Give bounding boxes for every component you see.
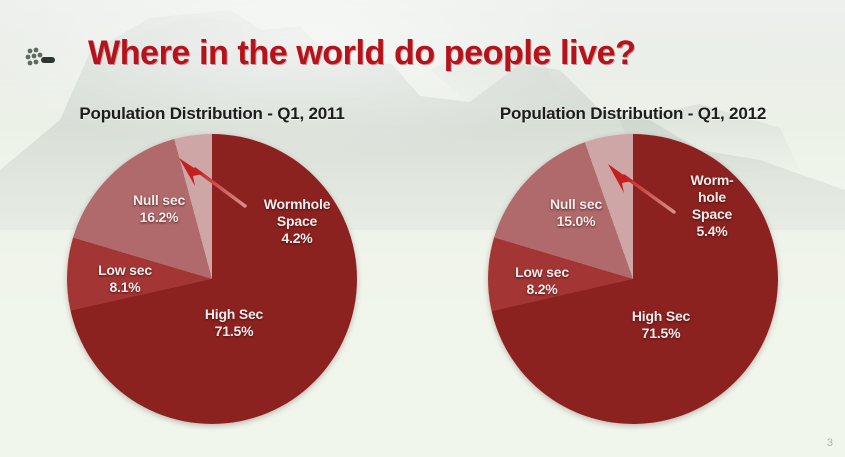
chart-title-2012: Population Distribution - Q1, 2012 bbox=[423, 104, 843, 124]
page-title: Where in the world do people live? bbox=[88, 34, 635, 73]
wormhole-name-line2-2011: Space bbox=[237, 213, 357, 230]
null-sec-name-2012: Null sec bbox=[528, 196, 624, 213]
slice-label-high-sec-2012: High Sec 71.5% bbox=[606, 308, 716, 342]
wormhole-name-line1-2012: Worm- bbox=[666, 172, 758, 189]
slice-label-high-sec-2011: High Sec 71.5% bbox=[179, 306, 289, 340]
slice-label-wormhole-2012: Worm- hole Space 5.4% bbox=[666, 172, 758, 240]
wormhole-name-line1-2011: Wormhole bbox=[237, 196, 357, 213]
low-sec-name-2012: Low sec bbox=[494, 264, 590, 281]
high-sec-name-2011: High Sec bbox=[179, 306, 289, 323]
slice-label-low-sec-2012: Low sec 8.2% bbox=[494, 264, 590, 298]
slice-label-wormhole-2011: Wormhole Space 4.2% bbox=[237, 196, 357, 247]
low-sec-value-2012: 8.2% bbox=[494, 281, 590, 298]
page-number: 3 bbox=[827, 437, 833, 449]
null-sec-value-2012: 15.0% bbox=[528, 213, 624, 230]
pie-wrap-2012: Null sec 15.0% Low sec 8.2% High Sec 71.… bbox=[488, 134, 778, 424]
pie-chart-2011: Population Distribution - Q1, 2011 Null … bbox=[2, 104, 422, 440]
low-sec-name-2011: Low sec bbox=[77, 262, 173, 279]
high-sec-name-2012: High Sec bbox=[606, 308, 716, 325]
wormhole-name-line3-2012: Space bbox=[666, 206, 758, 223]
low-sec-value-2011: 8.1% bbox=[77, 279, 173, 296]
pie-wrap-2011: Null sec 16.2% Low sec 8.1% High Sec 71.… bbox=[67, 134, 357, 424]
slice-label-null-sec-2011: Null sec 16.2% bbox=[111, 192, 207, 226]
charts-area: Population Distribution - Q1, 2011 Null … bbox=[0, 104, 845, 444]
dot-cluster-logo-icon bbox=[24, 46, 58, 68]
wormhole-name-line2-2012: hole bbox=[666, 189, 758, 206]
wormhole-value-2011: 4.2% bbox=[237, 230, 357, 247]
wormhole-value-2012: 5.4% bbox=[666, 223, 758, 240]
high-sec-value-2012: 71.5% bbox=[606, 325, 716, 342]
null-sec-value-2011: 16.2% bbox=[111, 209, 207, 226]
slide-header: Where in the world do people live? bbox=[0, 34, 845, 90]
pie-chart-2012: Population Distribution - Q1, 2012 Null … bbox=[423, 104, 843, 440]
chart-title-2011: Population Distribution - Q1, 2011 bbox=[2, 104, 422, 124]
slice-label-null-sec-2012: Null sec 15.0% bbox=[528, 196, 624, 230]
slide: Where in the world do people live? Popul… bbox=[0, 0, 845, 457]
slice-label-low-sec-2011: Low sec 8.1% bbox=[77, 262, 173, 296]
high-sec-value-2011: 71.5% bbox=[179, 323, 289, 340]
null-sec-name-2011: Null sec bbox=[111, 192, 207, 209]
